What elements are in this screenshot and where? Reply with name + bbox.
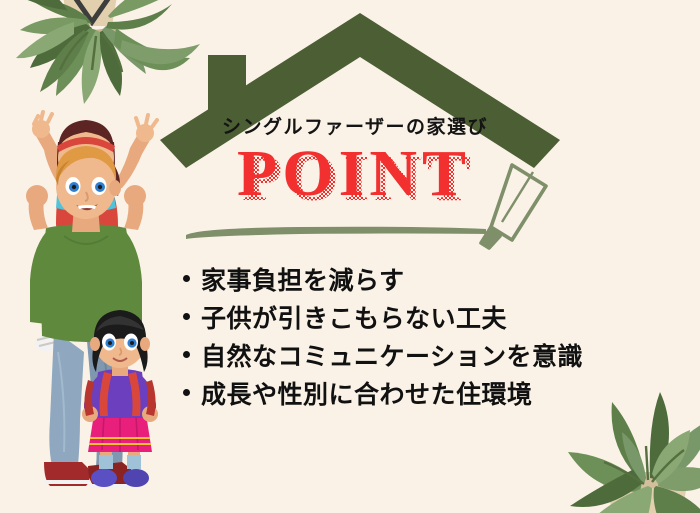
poster-canvas: シングルファーザーの家選び POINT POINT 家事負担を減らす 子供が引き… xyxy=(0,0,700,513)
plant-leaves xyxy=(568,392,700,513)
potted-plant-icon xyxy=(0,0,700,513)
